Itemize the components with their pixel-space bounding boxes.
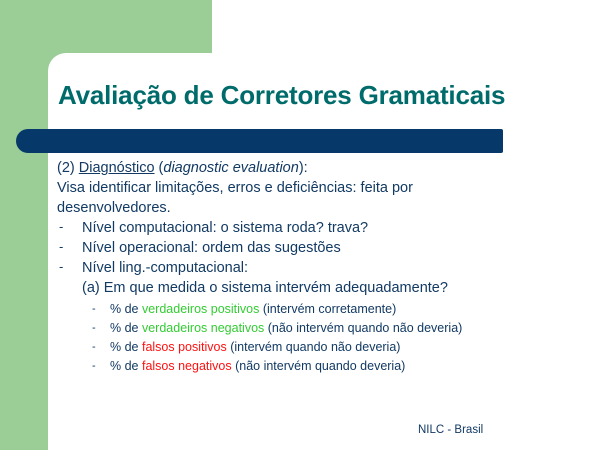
bullet-label: Nível computacional: o sistema roda? tra… [82, 220, 368, 236]
sub-bullet-highlight: verdadeiros negativos [142, 321, 264, 335]
sub-bullet-prefix: % de [110, 321, 142, 335]
sub-bullet-verdadeiros-negativos: -% de verdadeiros negativos (não intervé… [57, 319, 577, 338]
sub-bullet-prefix: % de [110, 359, 142, 373]
sub-bullet-dash-icon: - [92, 300, 96, 319]
decor-green-strip [0, 53, 48, 450]
sub-bullet-falsos-positivos: -% de falsos positivos (intervém quando … [57, 338, 577, 357]
sub-bullet-dash-icon: - [92, 338, 96, 357]
sub-bullet-suffix: (não intervém quando deveria) [232, 359, 406, 373]
sub-bullet-highlight: falsos positivos [142, 340, 227, 354]
sub-bullet-prefix: % de [110, 340, 142, 354]
bullet-label: Nível ling.-computacional: [82, 260, 248, 276]
heading-underlined-term: Diagnóstico [79, 160, 155, 176]
sub-bullet-suffix: (intervém quando não deveria) [227, 340, 401, 354]
bullet-item-operacional: - Nível operacional: ordem das sugestões [57, 238, 577, 258]
bullet-dash-icon: - [59, 237, 63, 257]
bullet-dash-icon: - [59, 257, 63, 277]
sub-bullet-suffix: (não intervém quando não deveria) [264, 321, 462, 335]
decor-green-block [0, 0, 212, 53]
heading-paren-close: ): [299, 160, 308, 176]
sub-bullet-highlight: verdadeiros positivos [142, 302, 259, 316]
bullet-item-computacional: - Nível computacional: o sistema roda? t… [57, 218, 577, 238]
sub-bullet-falsos-negativos: -% de falsos negativos (não intervém qua… [57, 357, 577, 376]
heading-line: (2) Diagnóstico (diagnostic evaluation): [57, 158, 577, 178]
heading-prefix: (2) [57, 160, 79, 176]
slide-canvas: Avaliação de Corretores Gramaticais (2) … [0, 0, 600, 450]
sub-bullet-list: -% de verdadeiros positivos (intervém co… [57, 300, 577, 376]
question-line: (a) Em que medida o sistema intervém ade… [57, 278, 577, 298]
bullet-item-ling-computacional: - Nível ling.-computacional: [57, 258, 577, 278]
sub-bullet-prefix: % de [110, 302, 142, 316]
sub-bullet-highlight: falsos negativos [142, 359, 232, 373]
sub-bullet-dash-icon: - [92, 319, 96, 338]
sub-bullet-dash-icon: - [92, 357, 96, 376]
bullet-label: Nível operacional: ordem das sugestões [82, 240, 341, 256]
sub-bullet-suffix: (intervém corretamente) [259, 302, 396, 316]
bullet-dash-icon: - [59, 217, 63, 237]
decor-navy-bar [16, 129, 503, 153]
sub-bullet-verdadeiros-positivos: -% de verdadeiros positivos (intervém co… [57, 300, 577, 319]
slide-body: (2) Diagnóstico (diagnostic evaluation):… [57, 158, 577, 376]
heading-italic-term: diagnostic evaluation [163, 160, 298, 176]
page-title: Avaliação de Corretores Gramaticais [58, 80, 578, 111]
intro-text: Visa identificar limitações, erros e def… [57, 178, 487, 218]
slide-footer: NILC - Brasil [418, 424, 483, 436]
